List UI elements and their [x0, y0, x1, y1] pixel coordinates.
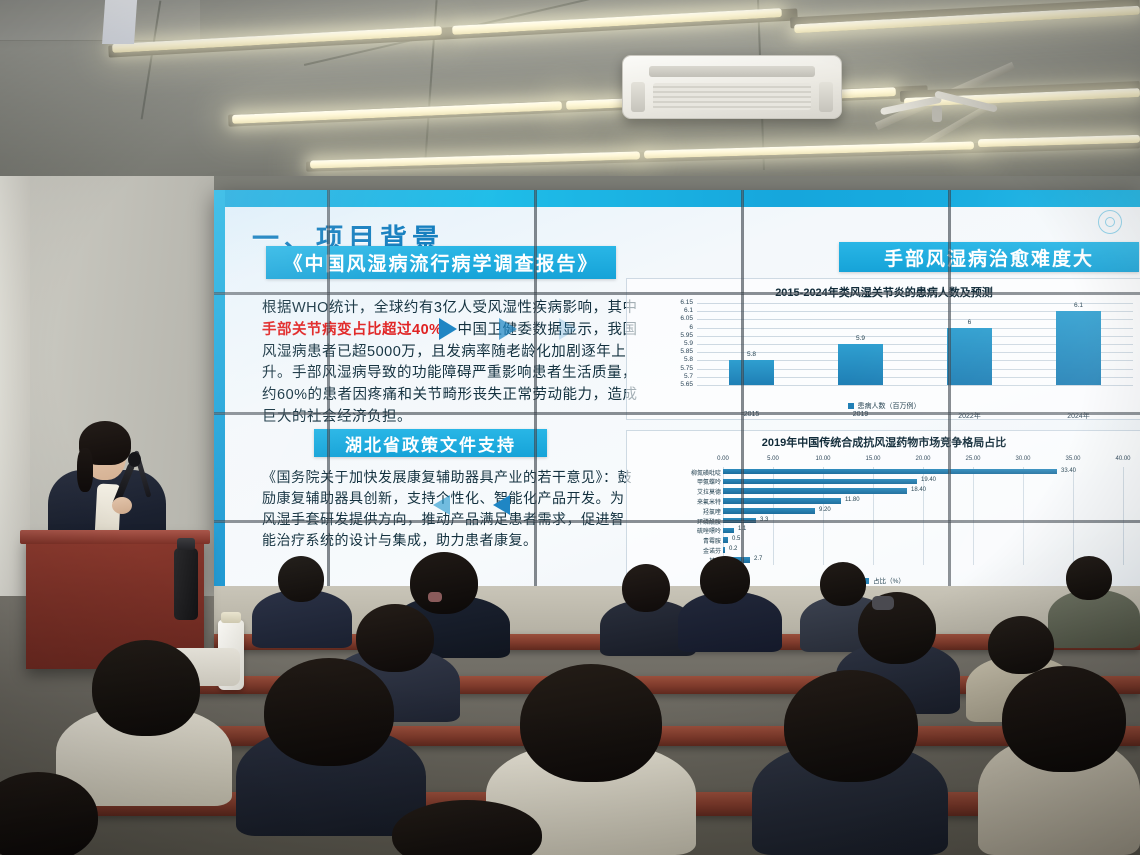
ac-side-vent [819, 82, 833, 112]
chart2-category-label: 金诺芬 [641, 546, 721, 555]
thermos-flask [174, 548, 198, 620]
chart2-x-tick: 20.00 [908, 456, 938, 462]
chart2-x-tick: 30.00 [1008, 456, 1038, 462]
chart2-gridline [1123, 467, 1124, 565]
chart2-x-tick: 0.00 [708, 456, 738, 462]
ac-side-vent [631, 82, 645, 112]
chart1-bar [838, 344, 884, 385]
chart2-category-label: 甲氨蝶呤 [641, 477, 721, 486]
policy-support-chip: 湖北省政策文件支持 [314, 429, 547, 457]
chart2-category-label: 羟氯喹 [641, 507, 721, 516]
chart2-value-label: 33.40 [1061, 468, 1076, 474]
slide-top-accent-bar [214, 190, 1140, 207]
chart2-category-label: 硫唑嘌呤 [641, 526, 721, 535]
slide-left-accent-bar [214, 190, 225, 596]
audience-head [1002, 666, 1126, 772]
chart1-plot-area: 5.820155.9201962022年6.12024年 [697, 303, 1133, 385]
who-paragraph-pre: 根据WHO统计，全球约有3亿人受风湿性疾病影响，其中 [262, 300, 638, 316]
presenter-hair-side [77, 448, 93, 492]
chart2-x-tick: 35.00 [1058, 456, 1088, 462]
chart2-value-label: 11.80 [845, 497, 860, 503]
chart1-legend-swatch [848, 403, 854, 409]
arrow-left-1-icon [433, 495, 450, 515]
chart2-value-label: 2.7 [754, 556, 762, 562]
chart1-legend-label: 患病人数（百万例） [858, 403, 921, 410]
chart2-bar [723, 537, 728, 543]
audience-head [278, 556, 324, 602]
chart-rheumatoid-patients: 2015-2024年类风湿关节炎的患病人数及预测 6.156.16.0565.9… [626, 278, 1140, 420]
audience-head [820, 562, 866, 606]
ac-grill [649, 66, 815, 77]
chart2-bar [723, 488, 907, 494]
chart1-bar [729, 360, 775, 385]
chart1-y-tick: 6.05 [661, 315, 693, 322]
chart1-y-tick: 6 [661, 324, 693, 331]
thermos-cap [177, 538, 195, 550]
chart2-bar [723, 547, 725, 553]
chart1-y-tick: 6.15 [661, 299, 693, 306]
audience-head [264, 658, 394, 766]
chart2-x-tick: 25.00 [958, 456, 988, 462]
ceiling-fan [880, 88, 1000, 128]
chart2-legend-label: 占比（%） [873, 578, 905, 585]
water-bottle-cap [221, 612, 241, 623]
audience-head [410, 552, 478, 614]
chart1-value-label: 5.9 [838, 335, 884, 342]
chart2-x-tick: 40.00 [1108, 456, 1138, 462]
ceiling-panel [0, 0, 200, 41]
chart2-category-label: 柳氮磺吡啶 [641, 468, 721, 477]
who-paragraph-highlight: 手部关节病变占比超过40%。 [262, 322, 458, 338]
presenter-hand [112, 497, 132, 514]
chart1-bar [1056, 311, 1102, 385]
arrow-left-2-icon [493, 495, 510, 515]
chart1-y-tick: 5.8 [661, 356, 693, 363]
chart2-value-label: 18.40 [911, 487, 926, 493]
presentation-slide: 一、项目背景 《中国风湿病流行病学调查报告》 根据WHO统计，全球约有3亿人受风… [214, 190, 1140, 596]
chart2-category-label: 来氟米特 [641, 497, 721, 506]
chart2-value-label: 19.40 [921, 477, 936, 483]
chart2-value-label: 0.2 [729, 546, 737, 552]
chart2-gridline [1023, 467, 1024, 565]
videowall-bezel [948, 190, 951, 596]
videowall-bezel [327, 190, 330, 596]
chart2-bar [723, 469, 1057, 475]
chart1-y-tick: 5.95 [661, 332, 693, 339]
chart1-y-tick: 5.9 [661, 340, 693, 347]
chart2-bar [723, 528, 734, 534]
arrow-right-3-icon [559, 318, 577, 340]
ceiling-seam [424, 0, 437, 160]
institution-logo-icon [1098, 210, 1122, 234]
chart2-gridline [973, 467, 974, 565]
chart1-value-label: 6 [947, 319, 993, 326]
chart2-category-label: 艾拉莫德 [641, 487, 721, 496]
microphone-head-icon [128, 452, 141, 467]
audience-head [1066, 556, 1112, 600]
air-conditioner-unit [622, 55, 842, 119]
audience-head [92, 640, 200, 736]
lecture-hall-photo: 一、项目背景 《中国风湿病流行病学调查报告》 根据WHO统计，全球约有3亿人受风… [0, 0, 1140, 855]
chart2-x-tick: 10.00 [808, 456, 838, 462]
chart1-bar [947, 328, 993, 385]
chart1-y-tick: 5.75 [661, 365, 693, 372]
videowall-bezel [214, 412, 1140, 415]
chart1-y-tick: 5.85 [661, 348, 693, 355]
podium-notes [102, 0, 138, 44]
chart2-x-tick: 15.00 [858, 456, 888, 462]
ac-vent-face [653, 83, 811, 110]
difficulty-chip: 手部风湿病治愈难度大 [839, 242, 1139, 272]
chart2-x-tick: 5.00 [758, 456, 788, 462]
chart2-bar [723, 508, 815, 514]
audience-head [356, 604, 434, 672]
chart2-value-label: 0.5 [732, 536, 740, 542]
audience-head [858, 592, 936, 664]
chart1-legend: 患病人数（百万例） [627, 401, 1140, 411]
report-title-chip: 《中国风湿病流行病学调查报告》 [266, 246, 616, 279]
chart2-plot-area: 0.005.0010.0015.0020.0025.0030.0035.0040… [723, 467, 1123, 565]
videowall-bezel [214, 520, 1140, 523]
audience-head [622, 564, 670, 612]
videowall-bezel [214, 292, 1140, 295]
audience-head [784, 670, 918, 782]
led-video-wall[interactable]: 一、项目背景 《中国风湿病流行病学调查报告》 根据WHO统计，全球约有3亿人受风… [214, 190, 1140, 596]
arrow-right-2-icon [499, 318, 517, 340]
chart2-category-label: 青霉胺 [641, 536, 721, 545]
videowall-bezel [534, 190, 537, 596]
audience-head [988, 616, 1054, 674]
chart1-y-tick: 5.65 [661, 381, 693, 388]
chart2-bar [723, 479, 917, 485]
audience-head [700, 556, 750, 604]
arrow-right-1-icon [439, 318, 457, 340]
chart2-title: 2019年中国传统合成抗风湿药物市场竞争格局占比 [627, 436, 1140, 451]
chart2-gridline [1073, 467, 1074, 565]
ceiling [0, 0, 1140, 186]
hair-clip [428, 592, 442, 602]
chart1-y-tick: 6.1 [661, 307, 693, 314]
chart1-y-tick: 5.7 [661, 373, 693, 380]
chart1-value-label: 5.8 [729, 351, 775, 358]
videowall-bezel [741, 190, 744, 596]
audience-head [520, 664, 662, 782]
chart2-value-label: 9.20 [819, 507, 831, 513]
chart1-gridline [697, 385, 1133, 386]
chart1-value-label: 6.1 [1056, 302, 1102, 309]
hair-accessory [872, 596, 894, 610]
